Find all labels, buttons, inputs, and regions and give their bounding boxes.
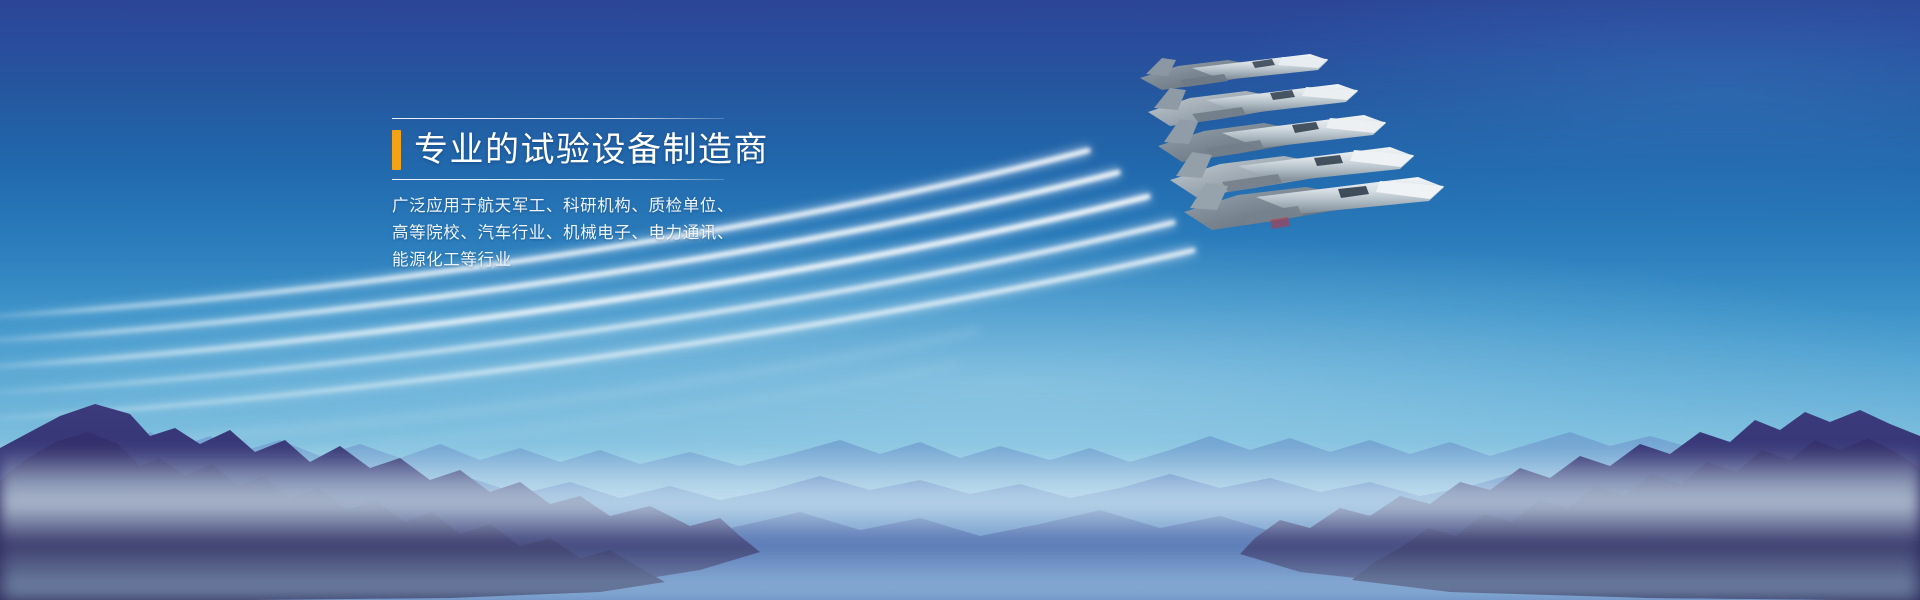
headline-row: 专业的试验设备制造商	[392, 119, 732, 179]
subtitle-line: 能源化工等行业	[392, 247, 732, 274]
subtitle-block: 广泛应用于航天军工、科研机构、质检单位、 高等院校、汽车行业、机械电子、电力通讯…	[392, 180, 732, 274]
subtitle-line: 高等院校、汽车行业、机械电子、电力通讯、	[392, 220, 732, 247]
hero-banner: 专业的试验设备制造商 广泛应用于航天军工、科研机构、质检单位、 高等院校、汽车行…	[0, 0, 1920, 600]
jet-formation-group	[1130, 38, 1500, 268]
mountain-mist-base	[0, 530, 1920, 600]
subtitle-line: 广泛应用于航天军工、科研机构、质检单位、	[392, 193, 732, 220]
fighter-jet	[1140, 54, 1328, 90]
banner-copy-block: 专业的试验设备制造商 广泛应用于航天军工、科研机构、质检单位、 高等院校、汽车行…	[392, 118, 732, 274]
page-title: 专业的试验设备制造商	[414, 130, 769, 170]
mountain-range-group	[0, 340, 1920, 600]
fighter-jet	[1148, 84, 1358, 126]
accent-bar	[392, 130, 401, 170]
